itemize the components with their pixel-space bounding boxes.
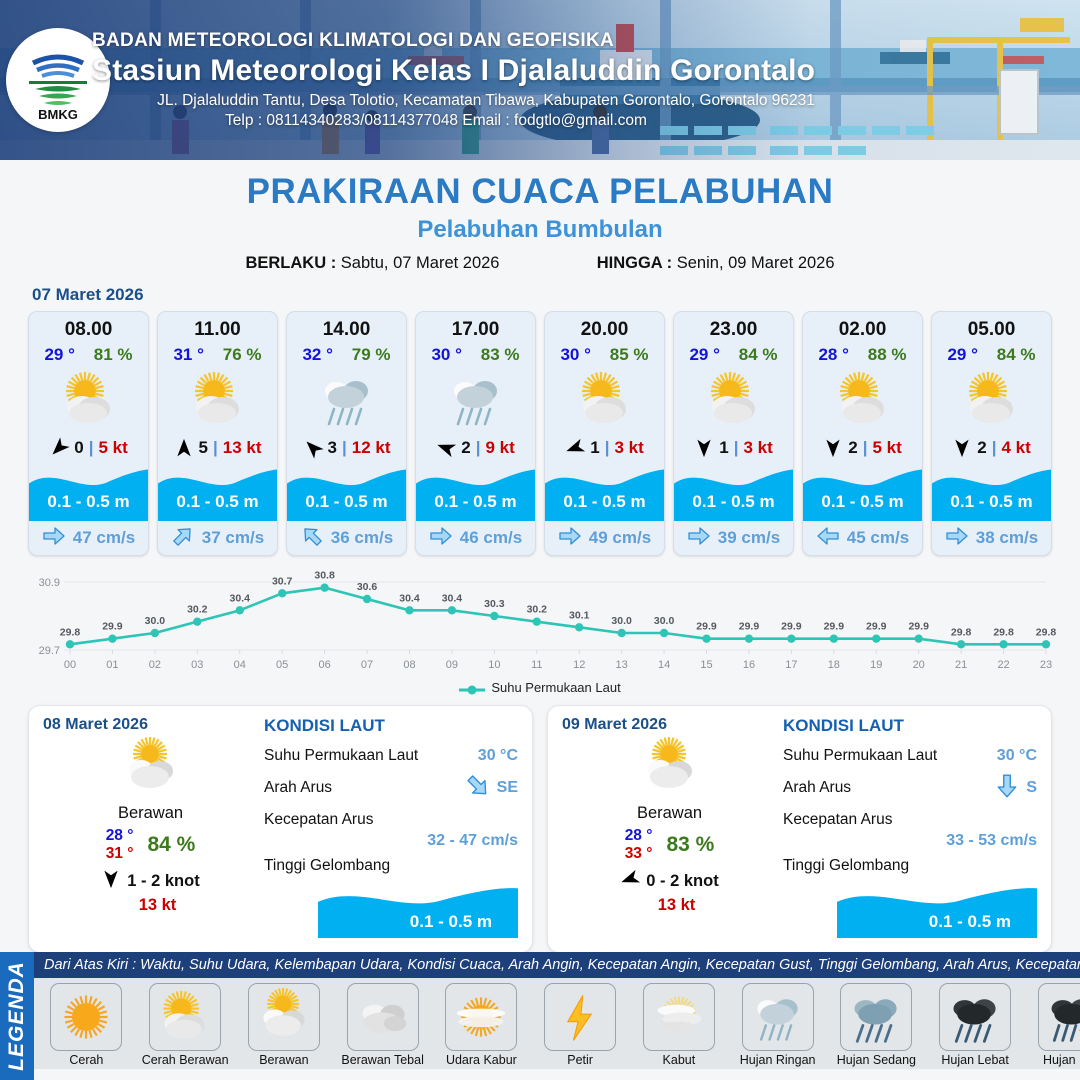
wind-speed: 4 kt <box>1001 438 1030 458</box>
daily-forecast-panel[interactable]: 09 Maret 2026 Berawan 28 ° 33 ° 83 % 0 -… <box>547 705 1052 953</box>
svg-text:29.8: 29.8 <box>993 626 1014 638</box>
daily-humidity: 83 % <box>666 833 714 857</box>
svg-text:30.1: 30.1 <box>569 609 590 621</box>
current-direction-icon <box>945 524 969 553</box>
sea-condition-title: KONDISI LAUT <box>264 716 518 736</box>
wave-height-value: 0.1 - 0.5 m <box>545 492 664 512</box>
svg-text:30.4: 30.4 <box>442 592 463 604</box>
wind-direction-icon <box>49 438 69 458</box>
legend-note: Dari Atas Kiri : Waktu, Suhu Udara, Kele… <box>34 952 1080 978</box>
svg-text:BMKG: BMKG <box>38 107 78 122</box>
wind-direction-value: 1 <box>590 438 599 458</box>
wind-speed: 3 kt <box>743 438 772 458</box>
forecast-card[interactable]: 14.00 32 ° 79 % 3 | 12 kt 0.1 - 0.5 m <box>286 311 407 556</box>
wave-height-block: 0.1 - 0.5 m <box>287 465 406 521</box>
card-humidity: 81 % <box>94 345 133 365</box>
chart-legend-label: Suhu Permukaan Laut <box>491 680 620 695</box>
cerah-berawan-icon <box>803 367 922 433</box>
hujan-ringan-icon <box>287 367 406 433</box>
legend-item-label: Hujan Petir <box>1043 1053 1080 1067</box>
svg-text:30.3: 30.3 <box>484 598 505 610</box>
card-temperature: 31 ° <box>173 345 203 365</box>
legend-item-label: Hujan Sedang <box>837 1053 916 1067</box>
card-time: 08.00 <box>29 312 148 341</box>
svg-text:29.7: 29.7 <box>39 645 60 657</box>
legend-item-label: Berawan <box>259 1053 308 1067</box>
current-speed-value: 45 cm/s <box>847 528 909 548</box>
svg-text:30.2: 30.2 <box>527 604 548 616</box>
svg-text:30.2: 30.2 <box>187 604 208 616</box>
daily-wind-range: 1 - 2 knot <box>127 872 199 891</box>
wind-direction-icon <box>436 438 456 458</box>
wind-direction-value: 2 <box>848 438 857 458</box>
legend-item: Hujan Petir <box>1026 983 1080 1067</box>
current-speed-value: 36 cm/s <box>331 528 393 548</box>
daily-date: 09 Maret 2026 <box>562 716 777 734</box>
cerah-berawan-icon <box>674 367 793 433</box>
card-time: 11.00 <box>158 312 277 341</box>
wave-height-label: Tinggi Gelombang <box>264 857 390 875</box>
svg-text:11: 11 <box>531 659 542 671</box>
daily-condition: Berawan <box>562 804 777 823</box>
wind-speed: 9 kt <box>485 438 514 458</box>
wind-speed: 3 kt <box>614 438 643 458</box>
legend-section: LEGENDA Dari Atas Kiri : Waktu, Suhu Uda… <box>0 952 1080 1080</box>
svg-text:29.9: 29.9 <box>781 621 802 633</box>
berawan-icon <box>248 983 320 1051</box>
card-temperature: 29 ° <box>44 345 74 365</box>
sst-value: 30 °C <box>478 747 518 765</box>
valid-from-value: Sabtu, 07 Maret 2026 <box>341 254 500 272</box>
wind-direction-value: 1 <box>719 438 728 458</box>
daily-wind-direction-icon <box>620 869 640 894</box>
card-temperature: 30 ° <box>431 345 461 365</box>
current-speed-value: 37 cm/s <box>202 528 264 548</box>
hujan-sedang-icon <box>840 983 912 1051</box>
svg-text:20: 20 <box>913 659 925 671</box>
svg-text:16: 16 <box>743 659 755 671</box>
cerah-icon <box>50 983 122 1051</box>
forecast-card[interactable]: 08.00 29 ° 81 % 0 | 5 kt 0.1 - 0.5 m 47 … <box>28 311 149 556</box>
current-direction-icon <box>465 773 491 804</box>
legend-item-label: Petir <box>567 1053 593 1067</box>
legend-item: Cerah <box>38 983 135 1067</box>
hujan-ringan-icon <box>416 367 535 433</box>
svg-text:08: 08 <box>403 659 415 671</box>
current-direction-icon <box>171 524 195 553</box>
legend-item-label: Hujan Lebat <box>941 1053 1008 1067</box>
svg-text:30.0: 30.0 <box>145 615 166 627</box>
svg-text:23: 23 <box>1040 659 1052 671</box>
current-direction-icon <box>300 524 324 553</box>
current-speed-value: 33 - 53 cm/s <box>783 832 1037 850</box>
legend-item: Petir <box>532 983 629 1067</box>
legend-side-label: LEGENDA <box>5 961 29 1071</box>
legend-item-label: Hujan Ringan <box>740 1053 816 1067</box>
forecast-date-label: 07 Maret 2026 <box>32 285 144 304</box>
wave-height-block: 0.1 - 0.5 m <box>158 465 277 521</box>
svg-text:29.9: 29.9 <box>908 621 929 633</box>
wave-height-block: 0.1 - 0.5 m <box>264 884 518 940</box>
station-contact: Telp : 08114340283/08114377048 Email : f… <box>92 112 1070 130</box>
card-temperature: 32 ° <box>302 345 332 365</box>
cerah-berawan-icon <box>932 367 1051 433</box>
current-direction-icon <box>429 524 453 553</box>
header-text-block: BADAN METEOROLOGI KLIMATOLOGI DAN GEOFIS… <box>92 30 1070 130</box>
svg-text:22: 22 <box>997 659 1009 671</box>
svg-text:02: 02 <box>149 659 161 671</box>
divider: | <box>476 438 481 458</box>
card-temperature: 28 ° <box>818 345 848 365</box>
daily-temp-max: 33 ° <box>625 845 653 863</box>
svg-text:30.0: 30.0 <box>611 615 632 627</box>
daily-condition: Berawan <box>43 804 258 823</box>
daily-date: 08 Maret 2026 <box>43 716 258 734</box>
wind-direction-icon <box>565 438 585 458</box>
svg-text:04: 04 <box>234 659 246 671</box>
wave-height-value: 0.1 - 0.5 m <box>158 492 277 512</box>
svg-text:30.4: 30.4 <box>230 592 251 604</box>
daily-wind-direction-icon <box>101 869 121 894</box>
current-direction-value: SE <box>497 779 518 797</box>
forecast-card[interactable]: 23.00 29 ° 84 % 1 | 3 kt 0.1 - 0.5 m 39 … <box>673 311 794 556</box>
legend-item-label: Berawan Tebal <box>341 1053 423 1067</box>
agency-name: BADAN METEOROLOGI KLIMATOLOGI DAN GEOFIS… <box>92 30 1070 52</box>
legend-item: Berawan <box>236 983 333 1067</box>
wave-height-value: 0.1 - 0.5 m <box>410 912 492 932</box>
svg-text:21: 21 <box>955 659 967 671</box>
forecast-card[interactable]: 20.00 30 ° 85 % 1 | 3 kt 0.1 - 0.5 m 49 … <box>544 311 665 556</box>
card-humidity: 88 % <box>868 345 907 365</box>
wind-direction-icon <box>174 438 194 458</box>
divider: | <box>863 438 868 458</box>
valid-from-label: BERLAKU : <box>245 254 336 272</box>
card-humidity: 85 % <box>610 345 649 365</box>
cerah-berawan-icon <box>149 983 221 1051</box>
card-time: 02.00 <box>803 312 922 341</box>
svg-text:29.8: 29.8 <box>1036 626 1056 638</box>
current-speed-value: 32 - 47 cm/s <box>264 832 518 850</box>
wave-height-block: 0.1 - 0.5 m <box>674 465 793 521</box>
wave-height-label: Tinggi Gelombang <box>783 857 909 875</box>
hujan-ringan-icon <box>742 983 814 1051</box>
sea-condition-title: KONDISI LAUT <box>783 716 1037 736</box>
station-name: Stasiun Meteorologi Kelas I Djalaluddin … <box>92 54 1070 88</box>
legend-item: Hujan Sedang <box>828 983 925 1067</box>
svg-text:30.0: 30.0 <box>654 615 675 627</box>
card-humidity: 76 % <box>223 345 262 365</box>
legend-side-banner: LEGENDA <box>0 952 34 1080</box>
udara-kabur-icon <box>445 983 517 1051</box>
wind-speed: 13 kt <box>223 438 262 458</box>
current-direction-value: S <box>1026 779 1037 797</box>
current-speed-label: Kecepatan Arus <box>264 811 373 829</box>
card-temperature: 29 ° <box>689 345 719 365</box>
hourly-forecast-list: 08.00 29 ° 81 % 0 | 5 kt 0.1 - 0.5 m 47 … <box>0 311 1080 556</box>
current-direction-label: Arah Arus <box>783 779 851 797</box>
wave-height-block: 0.1 - 0.5 m <box>932 465 1051 521</box>
port-name: Pelabuhan Bumbulan <box>0 216 1080 244</box>
berawan-icon <box>43 736 258 800</box>
legend-item-label: Cerah Berawan <box>142 1053 229 1067</box>
wave-height-value: 0.1 - 0.5 m <box>29 492 148 512</box>
daily-forecast-panel[interactable]: 08 Maret 2026 Berawan 28 ° 31 ° 84 % 1 -… <box>28 705 533 953</box>
svg-text:29.9: 29.9 <box>824 621 845 633</box>
legend-item: Udara Kabur <box>433 983 530 1067</box>
daily-temp-max: 31 ° <box>106 845 134 863</box>
station-address: JL. Djalaluddin Tantu, Desa Tolotio, Kec… <box>92 92 1070 110</box>
forecast-date-row: 07 Maret 2026 <box>0 273 1080 311</box>
svg-text:05: 05 <box>276 659 288 671</box>
legend-item: Kabut <box>631 983 728 1067</box>
card-time: 05.00 <box>932 312 1051 341</box>
wave-height-block: 0.1 - 0.5 m <box>416 465 535 521</box>
wind-speed: 5 kt <box>98 438 127 458</box>
page-header: BMKG BADAN METEOROLOGI KLIMATOLOGI DAN G… <box>0 0 1080 160</box>
forecast-card[interactable]: 11.00 31 ° 76 % 5 | 13 kt 0.1 - 0.5 m 37… <box>157 311 278 556</box>
sst-value: 30 °C <box>997 747 1037 765</box>
svg-text:15: 15 <box>700 659 712 671</box>
sst-label: Suhu Permukaan Laut <box>783 747 937 765</box>
current-direction-icon <box>816 524 840 553</box>
card-time: 14.00 <box>287 312 406 341</box>
card-humidity: 84 % <box>997 345 1036 365</box>
wave-height-value: 0.1 - 0.5 m <box>932 492 1051 512</box>
daily-wind-range: 0 - 2 knot <box>646 872 718 891</box>
svg-text:17: 17 <box>785 659 797 671</box>
divider: | <box>213 438 218 458</box>
current-speed-value: 49 cm/s <box>589 528 651 548</box>
wave-height-value: 0.1 - 0.5 m <box>416 492 535 512</box>
svg-text:01: 01 <box>106 659 118 671</box>
berawan-icon <box>562 736 777 800</box>
legend-item: Hujan Ringan <box>729 983 826 1067</box>
wind-speed: 5 kt <box>872 438 901 458</box>
wave-height-value: 0.1 - 0.5 m <box>674 492 793 512</box>
svg-text:30.8: 30.8 <box>314 570 335 582</box>
wind-direction-value: 0 <box>74 438 83 458</box>
current-speed-label: Kecepatan Arus <box>783 811 892 829</box>
current-direction-icon <box>994 773 1020 804</box>
wave-height-value: 0.1 - 0.5 m <box>929 912 1011 932</box>
berawan-tebal-icon <box>347 983 419 1051</box>
cerah-berawan-icon <box>158 367 277 433</box>
current-speed-value: 39 cm/s <box>718 528 780 548</box>
wind-speed: 12 kt <box>352 438 391 458</box>
svg-text:09: 09 <box>446 659 458 671</box>
current-direction-icon <box>558 524 582 553</box>
wind-direction-icon <box>303 438 323 458</box>
card-humidity: 83 % <box>481 345 520 365</box>
svg-text:30.4: 30.4 <box>399 592 420 604</box>
wind-direction-value: 2 <box>977 438 986 458</box>
forecast-card[interactable]: 02.00 28 ° 88 % 2 | 5 kt 0.1 - 0.5 m 45 … <box>802 311 923 556</box>
legend-items: Cerah Cerah Berawan Berawan Berawan Teba… <box>34 978 1080 1069</box>
wind-direction-icon <box>952 438 972 458</box>
wind-direction-value: 3 <box>328 438 337 458</box>
card-humidity: 84 % <box>739 345 778 365</box>
svg-text:12: 12 <box>573 659 585 671</box>
legend-item-label: Cerah <box>69 1053 103 1067</box>
wind-direction-icon <box>694 438 714 458</box>
hujan-petir-icon <box>1038 983 1080 1051</box>
daily-gust: 13 kt <box>43 896 258 915</box>
chart-legend-marker <box>459 683 485 693</box>
svg-text:30.6: 30.6 <box>357 581 378 593</box>
chart-legend: Suhu Permukaan Laut <box>0 680 1080 695</box>
current-direction-icon <box>687 524 711 553</box>
svg-text:06: 06 <box>318 659 330 671</box>
card-time: 23.00 <box>674 312 793 341</box>
svg-text:00: 00 <box>64 659 76 671</box>
svg-text:30.7: 30.7 <box>272 575 293 587</box>
daily-temp-min: 28 ° <box>625 827 653 845</box>
valid-until-label: HINGGA : <box>597 254 672 272</box>
wave-height-block: 0.1 - 0.5 m <box>29 465 148 521</box>
wave-height-block: 0.1 - 0.5 m <box>783 884 1037 940</box>
wave-height-block: 0.1 - 0.5 m <box>545 465 664 521</box>
daily-forecast-list: 08 Maret 2026 Berawan 28 ° 31 ° 84 % 1 -… <box>0 695 1080 953</box>
svg-text:14: 14 <box>658 659 670 671</box>
card-time: 20.00 <box>545 312 664 341</box>
current-speed-value: 47 cm/s <box>73 528 135 548</box>
cerah-berawan-icon <box>29 367 148 433</box>
daily-gust: 13 kt <box>562 896 777 915</box>
title-block: PRAKIRAAN CUACA PELABUHAN Pelabuhan Bumb… <box>0 160 1080 273</box>
svg-text:13: 13 <box>616 659 628 671</box>
svg-text:29.9: 29.9 <box>739 621 760 633</box>
forecast-card[interactable]: 05.00 29 ° 84 % 2 | 4 kt 0.1 - 0.5 m 38 … <box>931 311 1052 556</box>
valid-until-value: Senin, 09 Maret 2026 <box>677 254 835 272</box>
wind-direction-value: 2 <box>461 438 470 458</box>
legend-item-label: Udara Kabur <box>446 1053 517 1067</box>
svg-text:07: 07 <box>361 659 373 671</box>
legend-item-label: Kabut <box>663 1053 696 1067</box>
svg-text:29.9: 29.9 <box>696 621 717 633</box>
wave-height-value: 0.1 - 0.5 m <box>803 492 922 512</box>
card-time: 17.00 <box>416 312 535 341</box>
svg-text:10: 10 <box>488 659 500 671</box>
current-direction-label: Arah Arus <box>264 779 332 797</box>
svg-text:29.9: 29.9 <box>102 621 123 633</box>
svg-text:18: 18 <box>828 659 840 671</box>
current-direction-icon <box>42 524 66 553</box>
card-humidity: 79 % <box>352 345 391 365</box>
page-title: PRAKIRAAN CUACA PELABUHAN <box>0 172 1080 212</box>
svg-text:29.8: 29.8 <box>60 626 81 638</box>
legend-item: Hujan Lebat <box>927 983 1024 1067</box>
validity-period: BERLAKU : Sabtu, 07 Maret 2026 HINGGA : … <box>0 254 1080 273</box>
sst-chart: 30.929.729.80029.90130.00230.20330.40430… <box>24 568 1056 678</box>
petir-icon <box>544 983 616 1051</box>
legend-item: Cerah Berawan <box>137 983 234 1067</box>
svg-text:30.9: 30.9 <box>39 577 60 589</box>
kabut-icon <box>643 983 715 1051</box>
wind-direction-icon <box>823 438 843 458</box>
card-temperature: 30 ° <box>560 345 590 365</box>
legend-item: Berawan Tebal <box>334 983 431 1067</box>
daily-humidity: 84 % <box>147 833 195 857</box>
divider: | <box>342 438 347 458</box>
hujan-lebat-icon <box>939 983 1011 1051</box>
forecast-card[interactable]: 17.00 30 ° 83 % 2 | 9 kt 0.1 - 0.5 m <box>415 311 536 556</box>
divider: | <box>605 438 610 458</box>
daily-temp-min: 28 ° <box>106 827 134 845</box>
legend-main: Dari Atas Kiri : Waktu, Suhu Udara, Kele… <box>34 952 1080 1080</box>
current-speed-value: 38 cm/s <box>976 528 1038 548</box>
svg-text:03: 03 <box>191 659 203 671</box>
divider: | <box>992 438 997 458</box>
sst-label: Suhu Permukaan Laut <box>264 747 418 765</box>
svg-text:19: 19 <box>870 659 882 671</box>
wave-height-block: 0.1 - 0.5 m <box>803 465 922 521</box>
cerah-berawan-icon <box>545 367 664 433</box>
wave-height-value: 0.1 - 0.5 m <box>287 492 406 512</box>
divider: | <box>734 438 739 458</box>
wind-direction-value: 5 <box>199 438 208 458</box>
svg-text:29.9: 29.9 <box>866 621 887 633</box>
current-speed-value: 46 cm/s <box>460 528 522 548</box>
divider: | <box>89 438 94 458</box>
card-temperature: 29 ° <box>947 345 977 365</box>
svg-text:29.8: 29.8 <box>951 626 972 638</box>
